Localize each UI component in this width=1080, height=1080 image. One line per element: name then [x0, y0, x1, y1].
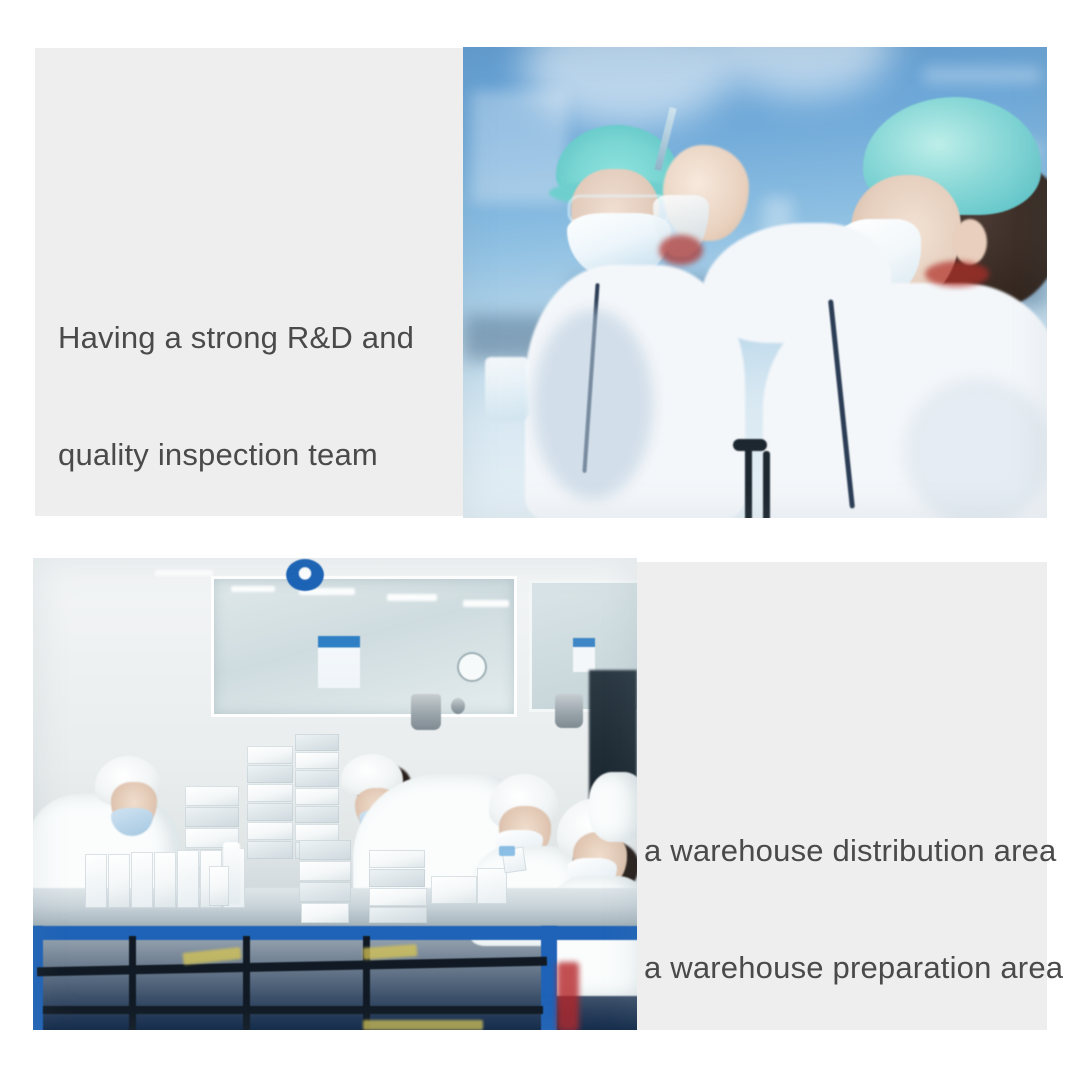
table-rail-2 [43, 1006, 543, 1014]
showcase-stage: Having a strong R&D and quality inspecti… [0, 0, 1080, 1080]
wall-notice-board-2 [573, 638, 595, 672]
stand-clamp [733, 439, 767, 451]
worker-4-red-garment [557, 962, 579, 1030]
stand-pole-1 [745, 445, 752, 518]
technician-b-ear [953, 219, 987, 265]
carton-loose-2 [477, 868, 507, 904]
top-caption-line-2: quality inspection team [58, 435, 458, 474]
technician-a-coat-shadow [533, 309, 653, 499]
lab-red-accent [925, 261, 989, 287]
carton-loose-3 [209, 866, 229, 906]
steel-bowl [451, 698, 465, 714]
table-strut-1 [129, 936, 136, 1030]
cleanroom-window [211, 576, 517, 717]
table-underside [33, 936, 637, 1030]
bottom-caption-line-1: a warehouse distribution area [644, 831, 1044, 870]
ceiling-lamp-5 [155, 570, 213, 576]
bottom-caption-line-2: a warehouse preparation area [644, 948, 1044, 987]
blue-label [499, 846, 515, 856]
wall-notice-board [318, 636, 360, 688]
ceiling-lamp-3 [387, 594, 437, 601]
lab-shelf-1 [923, 67, 1041, 83]
steel-pot-1 [411, 694, 441, 730]
carton-loose-1 [431, 876, 477, 904]
beaker-on-bench [485, 357, 529, 421]
steel-pot-2 [555, 694, 583, 728]
technician-b-coat-shadow [903, 377, 1047, 518]
ceiling-lamp-1 [231, 586, 275, 592]
bottom-caption: a warehouse distribution area a warehous… [644, 753, 1044, 1065]
stand-pole-2 [763, 451, 770, 518]
top-caption: Having a strong R&D and quality inspecti… [58, 240, 458, 552]
ceiling-warning-sign [286, 559, 324, 591]
lab-team-photo [463, 47, 1047, 518]
floor-marking-3 [363, 1020, 483, 1030]
wall-clock [457, 652, 487, 682]
flask-contents [659, 235, 703, 265]
worker-5-coat [589, 772, 637, 842]
table-strut-2 [243, 936, 250, 1030]
top-caption-line-1: Having a strong R&D and [58, 318, 458, 357]
ceiling-lamp-4 [463, 600, 509, 607]
lab-cabinet [471, 91, 567, 203]
warehouse-packing-photo [33, 558, 637, 1030]
